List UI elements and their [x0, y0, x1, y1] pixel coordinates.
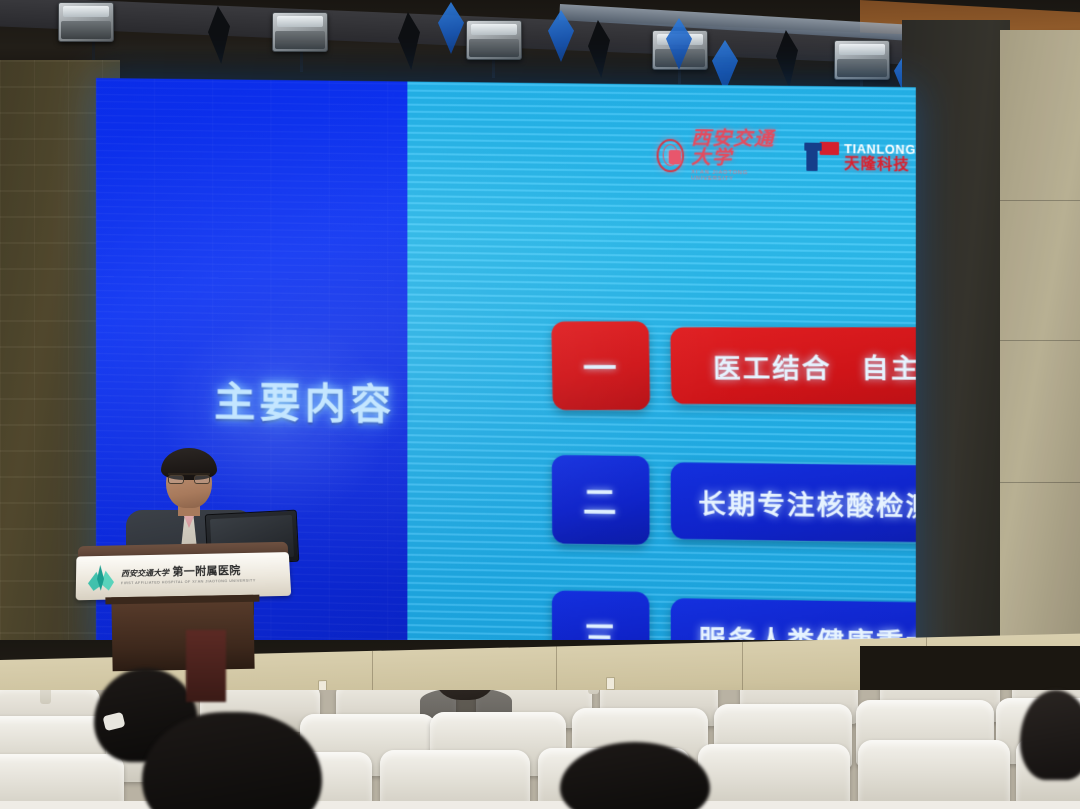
podium-and-speaker: 西安交通大学 第一附属医院 FIRST AFFILIATED HOSPITAL …: [60, 440, 300, 670]
tianlong-logo: TIANLONG 天隆科技: [804, 142, 916, 174]
podium-logo-en: FIRST AFFILIATED HOSPITAL OF XI'AN JIAOT…: [121, 579, 256, 585]
foreground-pillar: [186, 630, 226, 702]
tianlong-logo-cn: 天隆科技: [844, 156, 916, 173]
chair: [698, 744, 850, 809]
stage-light: [272, 12, 328, 52]
podium-logo-cn-small: 西安交通大学: [121, 569, 169, 579]
row-text-bar: 长期专注核酸检测产品: [671, 462, 916, 543]
stage-light: [834, 40, 890, 80]
speaker-glasses-icon: [168, 473, 210, 483]
stage-light: [58, 2, 114, 42]
xjtu-logo-cn: 西安交通大学: [691, 129, 790, 169]
podium-logo-cn-main: 第一附属医院: [172, 565, 241, 578]
stage-light: [466, 20, 522, 60]
podium-front-panel: 西安交通大学 第一附属医院 FIRST AFFILIATED HOSPITAL …: [76, 552, 292, 600]
wall-right-dark: [902, 20, 1010, 660]
row-number-badge: 一: [551, 321, 650, 410]
row-text-bar: 医工结合 自主可控: [670, 327, 916, 404]
chair: [858, 740, 1010, 808]
xjtu-logo-en: XI'AN JIAOTONG UNIVERSITY: [691, 170, 790, 182]
xjtu-logo: 西安交通大学 XI'AN JIAOTONG UNIVERSITY: [657, 129, 790, 183]
tianlong-mark-icon: [804, 142, 839, 173]
presentation-photo: 主要内容 西安交通大学 XI'AN JIAOTONG UNIVERSITY TI…: [0, 0, 1080, 809]
slide-row-1: 一 医工结合 自主可控: [551, 321, 915, 410]
xjtu-seal-icon: [657, 138, 684, 172]
water-bottle: [40, 690, 51, 704]
slide-logo-group: 西安交通大学 XI'AN JIAOTONG UNIVERSITY TIANLON…: [657, 129, 916, 185]
slide-row-2: 二 长期专注核酸检测产品: [552, 455, 916, 550]
row-number-badge: 二: [552, 455, 650, 545]
hospital-logo-icon: [88, 565, 114, 591]
slide-title: 主要内容: [184, 367, 425, 431]
water-bottle: [588, 690, 599, 694]
wall-outlet: [606, 677, 615, 690]
wall-far-right-panels: [1000, 30, 1080, 670]
podium-logo-cn: 西安交通大学 第一附属医院: [121, 566, 256, 580]
podium-column: [111, 595, 254, 671]
